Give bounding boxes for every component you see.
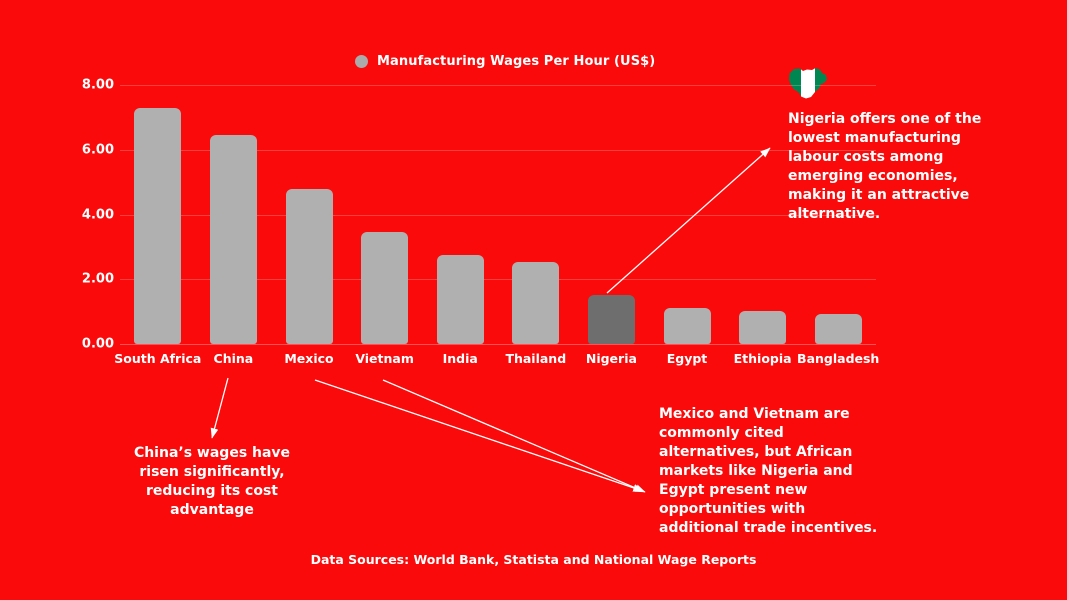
chart-legend: Manufacturing Wages Per Hour (US$) <box>355 51 655 71</box>
annotation-china: China’s wages have risen significantly, … <box>112 444 312 520</box>
x-label-thailand: Thailand <box>505 351 566 366</box>
data-sources-footer: Data Sources: World Bank, Statista and N… <box>0 552 1067 567</box>
bar-bangladesh[interactable] <box>815 314 862 344</box>
y-tick-label: 8.00 <box>82 78 114 93</box>
x-axis-labels: South AfricaChinaMexicoVietnamIndiaThail… <box>120 351 876 369</box>
bar-ethiopia[interactable] <box>739 311 786 344</box>
x-label-india: India <box>443 351 478 366</box>
legend-label: Manufacturing Wages Per Hour (US$) <box>377 54 655 69</box>
x-label-egypt: Egypt <box>667 351 708 366</box>
x-label-bangladesh: Bangladesh <box>797 351 879 366</box>
annotation-markets: Mexico and Vietnam are commonly cited al… <box>659 405 881 538</box>
legend-dot-icon <box>355 55 368 68</box>
bar-thailand[interactable] <box>512 262 559 344</box>
x-label-china: China <box>214 351 254 366</box>
bar-vietnam[interactable] <box>361 232 408 344</box>
y-tick-label: 2.00 <box>82 272 114 287</box>
y-tick-label: 0.00 <box>82 337 114 352</box>
x-label-nigeria: Nigeria <box>586 351 637 366</box>
leader-line-china <box>212 378 228 438</box>
chart-canvas: Manufacturing Wages Per Hour (US$) 8.00 … <box>0 0 1067 600</box>
bar-mexico[interactable] <box>286 189 333 344</box>
bar-series <box>120 85 876 344</box>
y-tick-label: 4.00 <box>82 207 114 222</box>
bar-china[interactable] <box>210 135 257 344</box>
annotation-nigeria: Nigeria offers one of the lowest manufac… <box>788 110 984 224</box>
x-label-vietnam: Vietnam <box>355 351 414 366</box>
y-tick-label: 6.00 <box>82 142 114 157</box>
x-label-ethiopia: Ethiopia <box>734 351 792 366</box>
bar-india[interactable] <box>437 255 484 344</box>
leader-line-mexico <box>315 380 643 491</box>
y-axis: 8.00 6.00 4.00 2.00 0.00 <box>78 85 114 344</box>
bar-egypt[interactable] <box>664 308 711 344</box>
bar-south-africa[interactable] <box>134 108 181 344</box>
x-label-mexico: Mexico <box>284 351 333 366</box>
gridline-baseline <box>120 344 876 345</box>
bar-nigeria[interactable] <box>588 295 635 344</box>
x-label-south-africa: South Africa <box>114 351 201 366</box>
leader-line-vietnam <box>383 380 645 492</box>
